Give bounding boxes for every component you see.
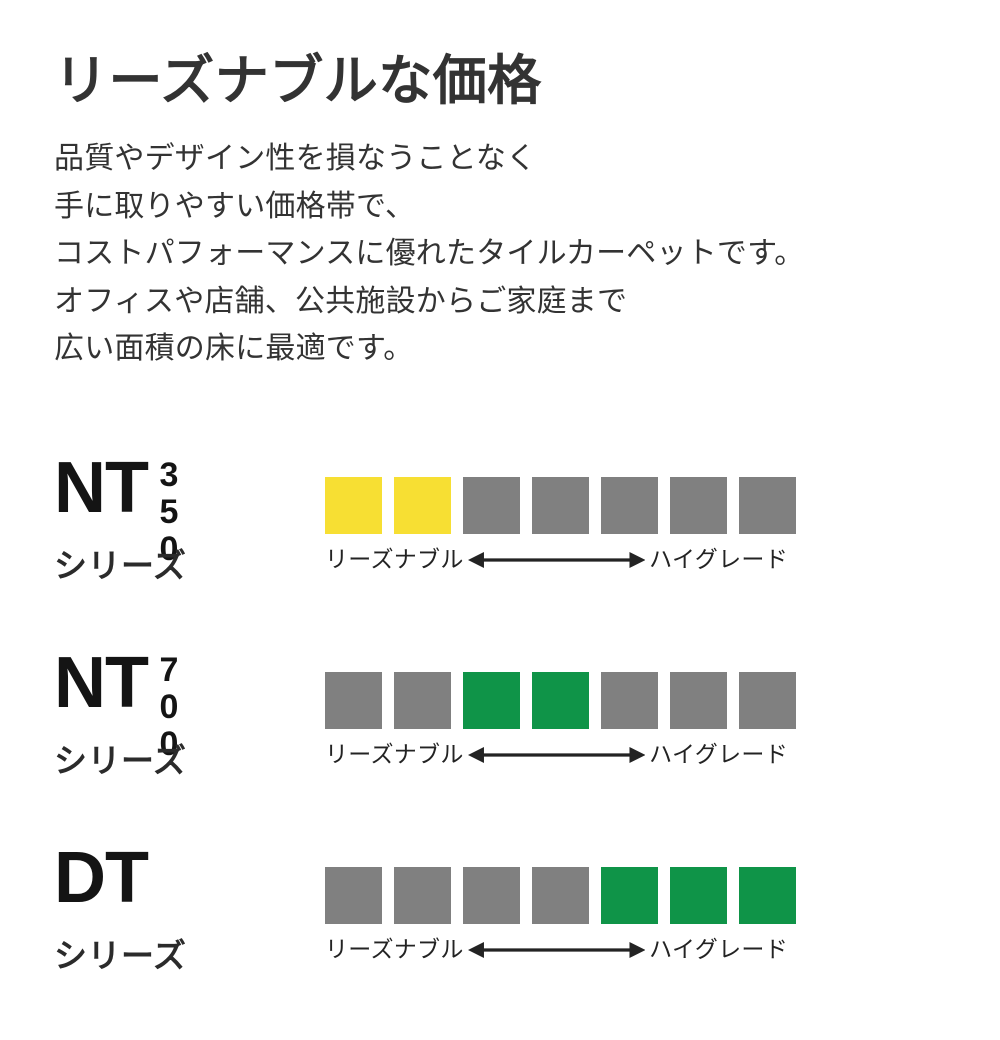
scale-axis: リーズナブル ハイグレード [325, 938, 788, 961]
grade-swatch [394, 477, 451, 534]
page-header: リーズナブルな価格 品質やデザイン性を損なうことなく 手に取りやすい価格帯で、 … [54, 52, 954, 372]
scale-low-label: リーズナブル [325, 743, 464, 766]
series-code-main: NT [54, 650, 148, 716]
series-label-dt: DT シリーズ [54, 845, 299, 980]
scale-high-label: ハイグレード [649, 548, 788, 571]
grade-swatch [532, 672, 589, 729]
grade-swatch [325, 477, 382, 534]
swatch-strip [325, 672, 795, 729]
swatch-strip [325, 867, 795, 924]
swatch-strip [325, 477, 795, 534]
double-arrow-icon [468, 744, 645, 766]
intro-line: 広い面積の床に最適です。 [54, 325, 954, 372]
intro-line: オフィスや店舗、公共施設からご家庭まで [54, 278, 954, 325]
series-label-nt700: NT 700 シリーズ [54, 650, 299, 785]
intro-line: 品質やデザイン性を損なうことなく [54, 135, 954, 182]
series-scale-nt350: リーズナブル ハイグレード [325, 477, 795, 571]
series-row-nt700: NT 700 シリーズ リーズナブル ハイグレード [0, 650, 1000, 845]
double-arrow-icon [468, 939, 645, 961]
scale-high-label: ハイグレード [649, 743, 788, 766]
grade-swatch [463, 477, 520, 534]
series-row-dt: DT シリーズ リーズナブル ハイグレード [0, 845, 1000, 1040]
grade-swatch [325, 867, 382, 924]
grade-swatch [463, 672, 520, 729]
grade-swatch [601, 477, 658, 534]
series-code-main: NT [54, 455, 148, 521]
grade-swatch [463, 867, 520, 924]
scale-axis: リーズナブル ハイグレード [325, 743, 788, 766]
scale-low-label: リーズナブル [325, 548, 464, 571]
page-title: リーズナブルな価格 [54, 52, 954, 111]
grade-swatch [739, 672, 796, 729]
grade-swatch [601, 867, 658, 924]
intro-paragraph: 品質やデザイン性を損なうことなく 手に取りやすい価格帯で、 コストパフォーマンス… [54, 135, 954, 372]
series-sub-label: シリーズ [54, 939, 299, 972]
double-arrow-icon [468, 549, 645, 571]
scale-high-label: ハイグレード [649, 938, 788, 961]
grade-swatch [670, 867, 727, 924]
grade-swatch [532, 477, 589, 534]
grade-swatch [601, 672, 658, 729]
grade-swatch [670, 477, 727, 534]
scale-low-label: リーズナブル [325, 938, 464, 961]
grade-swatch [739, 477, 796, 534]
series-row-nt350: NT 350 シリーズ リーズナブル ハイグレード [0, 455, 1000, 650]
scale-axis: リーズナブル ハイグレード [325, 548, 788, 571]
grade-swatch [394, 867, 451, 924]
grade-swatch [532, 867, 589, 924]
grade-swatch [739, 867, 796, 924]
grade-swatch [394, 672, 451, 729]
series-list: NT 350 シリーズ リーズナブル ハイグレード [0, 455, 1000, 1040]
series-label-nt350: NT 350 シリーズ [54, 455, 299, 590]
series-code-main: DT [54, 845, 148, 911]
grade-swatch [325, 672, 382, 729]
intro-line: 手に取りやすい価格帯で、 [54, 183, 954, 230]
series-code: NT 700 [54, 650, 299, 726]
series-code: DT [54, 845, 299, 921]
series-sub-label: シリーズ [54, 744, 299, 777]
series-scale-dt: リーズナブル ハイグレード [325, 867, 795, 961]
intro-line: コストパフォーマンスに優れたタイルカーペットです。 [54, 230, 954, 277]
series-scale-nt700: リーズナブル ハイグレード [325, 672, 795, 766]
grade-swatch [670, 672, 727, 729]
series-sub-label: シリーズ [54, 549, 299, 582]
series-code: NT 350 [54, 455, 299, 531]
